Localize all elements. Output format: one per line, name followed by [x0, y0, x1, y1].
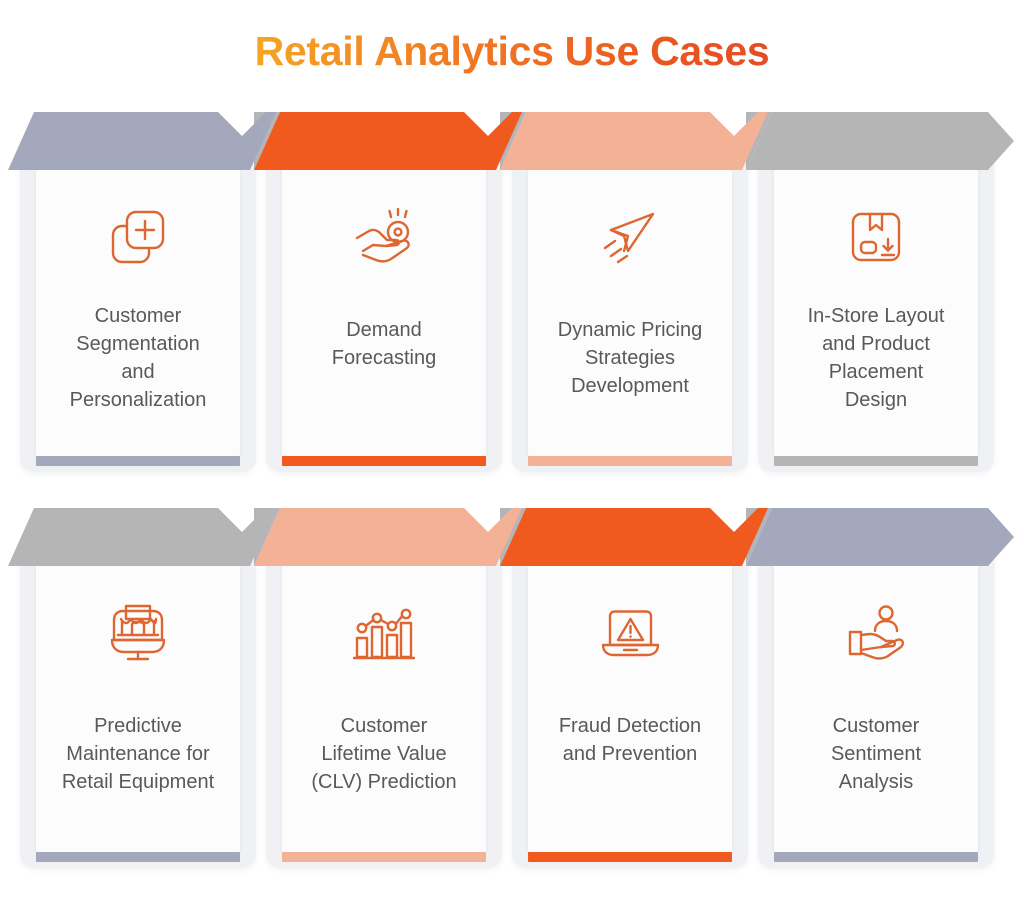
paper-plane-icon	[512, 194, 748, 280]
card-accent-bar	[36, 852, 240, 862]
use-case-card[interactable]: CustomerLifetime Value(CLV) Prediction	[266, 508, 502, 868]
use-case-card[interactable]: CustomerSentimentAnalysis	[758, 508, 994, 868]
card-label: CustomerSegmentationandPersonalization	[38, 302, 238, 414]
card-label: CustomerSentimentAnalysis	[776, 712, 976, 796]
card-label: PredictiveMaintenance forRetail Equipmen…	[38, 712, 238, 796]
use-case-card[interactable]: CustomerSegmentationandPersonalization	[20, 112, 256, 472]
card-accent-bar	[282, 456, 486, 466]
card-label: DemandForecasting	[284, 316, 484, 372]
use-case-card[interactable]: PredictiveMaintenance forRetail Equipmen…	[20, 508, 256, 868]
card-accent-bar	[774, 456, 978, 466]
package-download-icon	[758, 194, 994, 280]
card-row-2: PredictiveMaintenance forRetail Equipmen…	[0, 508, 1024, 868]
store-monitor-icon	[20, 590, 256, 676]
bar-trend-chart-icon	[266, 590, 502, 676]
hand-person-icon	[758, 590, 994, 676]
card-accent-bar	[528, 852, 732, 862]
card-accent-bar	[528, 456, 732, 466]
use-case-card[interactable]: DemandForecasting	[266, 112, 502, 472]
card-accent-bar	[774, 852, 978, 862]
card-row-1: CustomerSegmentationandPersonalizationDe…	[0, 112, 1024, 472]
infographic-poster: Retail Analytics Use Cases CustomerSegme…	[0, 0, 1024, 909]
use-case-card[interactable]: Dynamic PricingStrategiesDevelopment	[512, 112, 748, 472]
card-accent-bar	[36, 456, 240, 466]
card-label: In-Store Layoutand ProductPlacementDesig…	[776, 302, 976, 414]
page-title: Retail Analytics Use Cases	[255, 28, 770, 75]
hand-coin-icon	[266, 194, 502, 280]
layers-plus-icon	[20, 194, 256, 280]
poster-title-wrap: Retail Analytics Use Cases	[0, 28, 1024, 75]
use-case-card[interactable]: In-Store Layoutand ProductPlacementDesig…	[758, 112, 994, 472]
card-label: Dynamic PricingStrategiesDevelopment	[530, 316, 730, 400]
card-accent-bar	[282, 852, 486, 862]
card-label: Fraud Detectionand Prevention	[530, 712, 730, 768]
use-case-card[interactable]: Fraud Detectionand Prevention	[512, 508, 748, 868]
card-label: CustomerLifetime Value(CLV) Prediction	[284, 712, 484, 796]
laptop-warning-icon	[512, 590, 748, 676]
